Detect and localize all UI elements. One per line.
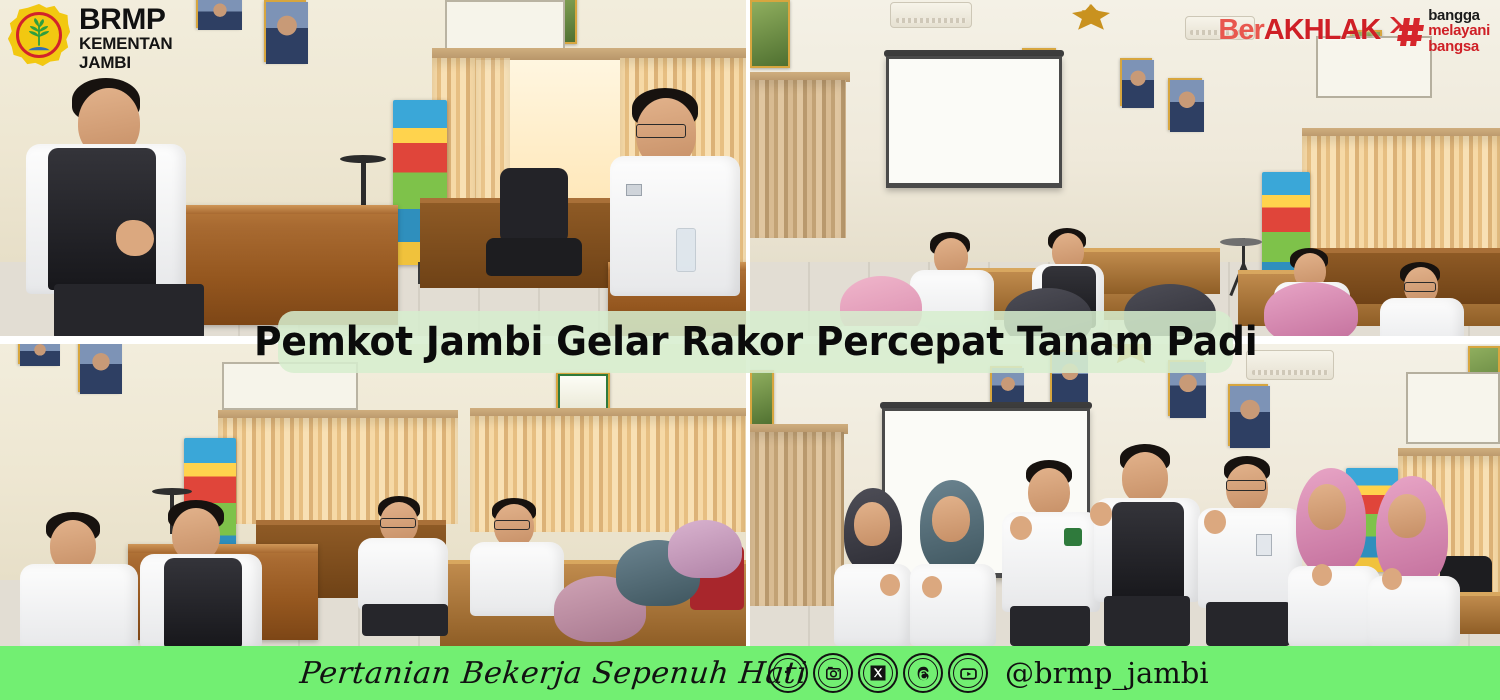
- finger-heart-gesture: [1090, 502, 1112, 526]
- person-vest: [140, 500, 264, 646]
- berakhlak-tagline-line3: bangsa: [1428, 39, 1490, 54]
- white-shirt: [1380, 298, 1464, 336]
- curtain: [1302, 136, 1500, 264]
- person-seated-man-glasses: [1380, 262, 1464, 336]
- person-seated-glasses: [358, 496, 450, 636]
- person-hijab-lavender: [662, 520, 746, 586]
- air-conditioner: [1246, 350, 1334, 380]
- photo-bottom-right: [750, 344, 1500, 646]
- finger-heart-gesture: [1382, 568, 1402, 590]
- group-member-6-hijab-pink: [1288, 468, 1380, 646]
- finger-heart-gesture: [1010, 516, 1032, 540]
- photo-bottom-left: [0, 344, 746, 646]
- berakhlak-hash-arrow-icon: [1384, 13, 1424, 49]
- white-shirt: [358, 538, 448, 610]
- group-member-2-hijab: [910, 480, 996, 646]
- black-vest: [1112, 502, 1184, 602]
- dark-trousers: [1104, 596, 1190, 646]
- curtain: [750, 80, 846, 238]
- head: [932, 496, 970, 542]
- group-member-3-man: [1002, 460, 1100, 646]
- name-tag: [626, 184, 642, 196]
- wall-certificate-frame: [556, 372, 610, 412]
- white-shirt: [20, 564, 138, 646]
- brmp-logo-text: BRMP KEMENTAN JAMBI: [79, 4, 172, 73]
- dark-trousers: [1010, 606, 1090, 646]
- finger-heart-gesture: [1204, 510, 1226, 534]
- plant-icon: [24, 17, 54, 47]
- black-vest: [164, 558, 242, 646]
- wall-portrait-frame: [196, 0, 240, 28]
- eyeglasses: [1404, 282, 1436, 292]
- white-shirt: [834, 564, 912, 646]
- head: [1028, 468, 1070, 516]
- poster-root: ★: [0, 0, 1500, 700]
- white-shirt: [1288, 566, 1380, 646]
- projector-screen: [886, 56, 1062, 188]
- hijab: [668, 520, 742, 578]
- office-chair: [500, 168, 568, 244]
- person-hijab-rose: [1256, 282, 1376, 336]
- berakhlak-tagline-line2: melayani: [1428, 23, 1490, 38]
- berakhlak-tagline: bangga melayani bangsa: [1428, 8, 1490, 54]
- wall-portrait-frame: [1228, 384, 1268, 446]
- person-left-speaker: [20, 78, 210, 336]
- head: [1308, 484, 1346, 530]
- agency-badge: [1064, 528, 1082, 546]
- wall-portrait-frame: [1120, 58, 1152, 106]
- berakhlak-word-akhlak: AKHLAK: [1264, 14, 1380, 46]
- dark-trousers: [362, 604, 448, 636]
- youtube-icon[interactable]: [948, 653, 988, 693]
- footer-tagline: Pertanian Bekerja Sepenuh Hati: [298, 656, 808, 691]
- group-member-7-hijab-pink: [1368, 476, 1462, 646]
- eyeglasses: [380, 518, 416, 528]
- eyeglasses: [494, 520, 530, 530]
- curtain: [750, 432, 844, 606]
- wall-portrait-frame: [18, 344, 58, 364]
- air-conditioner: [890, 2, 972, 28]
- whiteboard: [1406, 372, 1500, 444]
- stool-pole: [361, 160, 366, 210]
- white-shirt: [910, 564, 996, 646]
- finger-heart-gesture: [880, 574, 900, 596]
- white-shirt: [1368, 576, 1460, 646]
- footer-bar: Pertanian Bekerja Sepenuh Hati: [0, 646, 1500, 700]
- id-card: [1256, 534, 1272, 556]
- eyeglasses: [636, 124, 686, 138]
- wall-portrait-frame: [264, 0, 306, 62]
- dark-trousers: [54, 284, 204, 336]
- brmp-title: BRMP: [79, 6, 172, 34]
- berakhlak-wordmark: BerAKHLAK: [1218, 16, 1380, 45]
- brmp-subtitle-kementan: KEMENTAN: [79, 34, 172, 54]
- wall-certificate-frame: [750, 0, 790, 68]
- scene-bottom-right: [750, 344, 1500, 646]
- hand-gesture: [116, 220, 154, 256]
- social-handle: @brmp_jambi: [1005, 656, 1209, 690]
- berakhlak-tagline-line1: bangga: [1428, 8, 1490, 23]
- dark-trousers: [1206, 602, 1290, 646]
- berakhlak-word-ber: Ber: [1218, 14, 1263, 46]
- brmp-subtitle-jambi: JAMBI: [79, 53, 172, 73]
- headline-band: Pemkot Jambi Gelar Rakor Percepat Tanam …: [278, 311, 1233, 373]
- head: [1388, 494, 1426, 538]
- instagram-icon[interactable]: [813, 653, 853, 693]
- group-member-5-man-glasses: [1198, 456, 1302, 646]
- black-vest: [48, 148, 156, 290]
- head: [1122, 452, 1168, 504]
- berakhlak-logo: BerAKHLAK bangga melayani bangsa: [1218, 8, 1490, 54]
- social-icon-group: [768, 653, 988, 693]
- round-stool: [1220, 238, 1262, 246]
- head: [854, 502, 890, 546]
- wall-portrait-frame: [78, 344, 120, 392]
- person-right-official: [610, 88, 746, 328]
- brmp-logo: BRMP KEMENTAN JAMBI: [8, 4, 172, 73]
- white-shirt: [610, 156, 740, 296]
- drinking-glass: [676, 228, 696, 272]
- wall-portrait-frame: [1168, 78, 1202, 130]
- headline-text: Pemkot Jambi Gelar Rakor Percepat Tanam …: [254, 319, 1257, 365]
- finger-heart-gesture: [1312, 564, 1332, 586]
- group-member-4-man-vest: [1094, 444, 1200, 646]
- hijab: [1264, 282, 1358, 336]
- office-chair-seat: [486, 238, 582, 276]
- facebook-icon[interactable]: [768, 653, 808, 693]
- x-twitter-icon[interactable]: [858, 653, 898, 693]
- ministry-of-agriculture-badge-icon: [8, 4, 70, 66]
- scene-bottom-left: [0, 344, 746, 646]
- threads-icon[interactable]: [903, 653, 943, 693]
- finger-heart-gesture: [922, 576, 942, 598]
- person-front-left: [20, 512, 140, 646]
- group-member-1-hijab: [834, 488, 912, 646]
- eyeglasses: [1226, 480, 1266, 491]
- wall-certificate-frame: [750, 370, 774, 428]
